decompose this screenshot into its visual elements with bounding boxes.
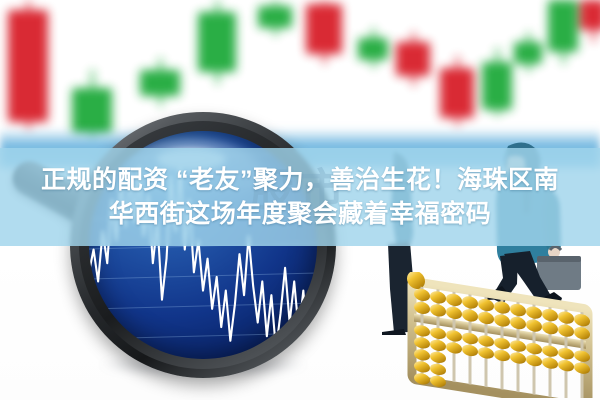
abacus-bead [430, 363, 446, 377]
page-title-line-2: 华西街这场年度聚会藏着幸福密码 [109, 198, 492, 230]
abacus-bead [478, 346, 494, 360]
candlestick-body [482, 62, 512, 110]
abacus-bead [542, 321, 558, 336]
abacus-bead [542, 308, 558, 323]
abacus-bead [542, 344, 558, 358]
abacus-bead [494, 349, 510, 363]
abacus-bead [510, 339, 526, 353]
abacus-bead [510, 316, 526, 331]
abacus-bead [478, 298, 494, 313]
abacus-bead [558, 347, 574, 361]
abacus-bead [430, 290, 446, 305]
abacus-bead [446, 306, 462, 321]
candlestick-body [548, 0, 578, 52]
abacus-bead [430, 339, 446, 353]
abacus-bead [510, 351, 526, 365]
abacus-bead [430, 327, 446, 341]
title-text-block: 正规的配资 “老友”聚力，善治生花！海珠区南 华西街这场年度聚会藏着幸福密码 [0, 148, 600, 246]
abacus-bead [558, 310, 574, 325]
candlestick-body [198, 12, 236, 72]
candlestick-body [258, 6, 292, 28]
abacus-bead [494, 300, 510, 315]
abacus-bead [494, 337, 510, 351]
candlestick-body [580, 0, 600, 30]
abacus-bead [430, 351, 446, 365]
candlestick-body [8, 10, 48, 122]
abacus-bead [462, 308, 478, 323]
candlestick-body [358, 38, 388, 60]
candlestick-body [140, 70, 180, 96]
abacus-bead [494, 313, 510, 328]
abacus-bead [478, 334, 494, 348]
abacus-bead [462, 332, 478, 346]
candlestick-body [440, 68, 474, 118]
abacus-bead [462, 344, 478, 358]
candlestick-body [514, 42, 542, 64]
abacus-bead [446, 341, 462, 355]
abacus-bead [526, 318, 542, 333]
title-band: 股市 正规的配资 “老友”聚力，善治生花！海珠区南 华西街这场年度聚会藏着幸福密… [0, 148, 600, 246]
abacus-bead [526, 305, 542, 320]
abacus [404, 272, 600, 398]
abacus-bead [542, 356, 558, 370]
abacus-bead [558, 359, 574, 373]
abacus-bead [558, 323, 574, 338]
candlestick-body [306, 4, 342, 54]
thumbnail-image: 股市 正规的配资 “老友”聚力，善治生花！海珠区南 华西街这场年度聚会藏着幸福密… [0, 0, 600, 400]
page-title-line-1: 正规的配资 “老友”聚力，善治生花！海珠区南 [41, 164, 559, 196]
abacus-bead [510, 303, 526, 318]
abacus-bead [526, 342, 542, 356]
abacus-bead [462, 295, 478, 310]
abacus-bead [430, 303, 446, 318]
candlestick-body [396, 42, 430, 76]
abacus-bead [446, 329, 462, 343]
abacus-bead [446, 293, 462, 308]
abacus-bead [478, 311, 494, 326]
abacus-bead [526, 354, 542, 368]
